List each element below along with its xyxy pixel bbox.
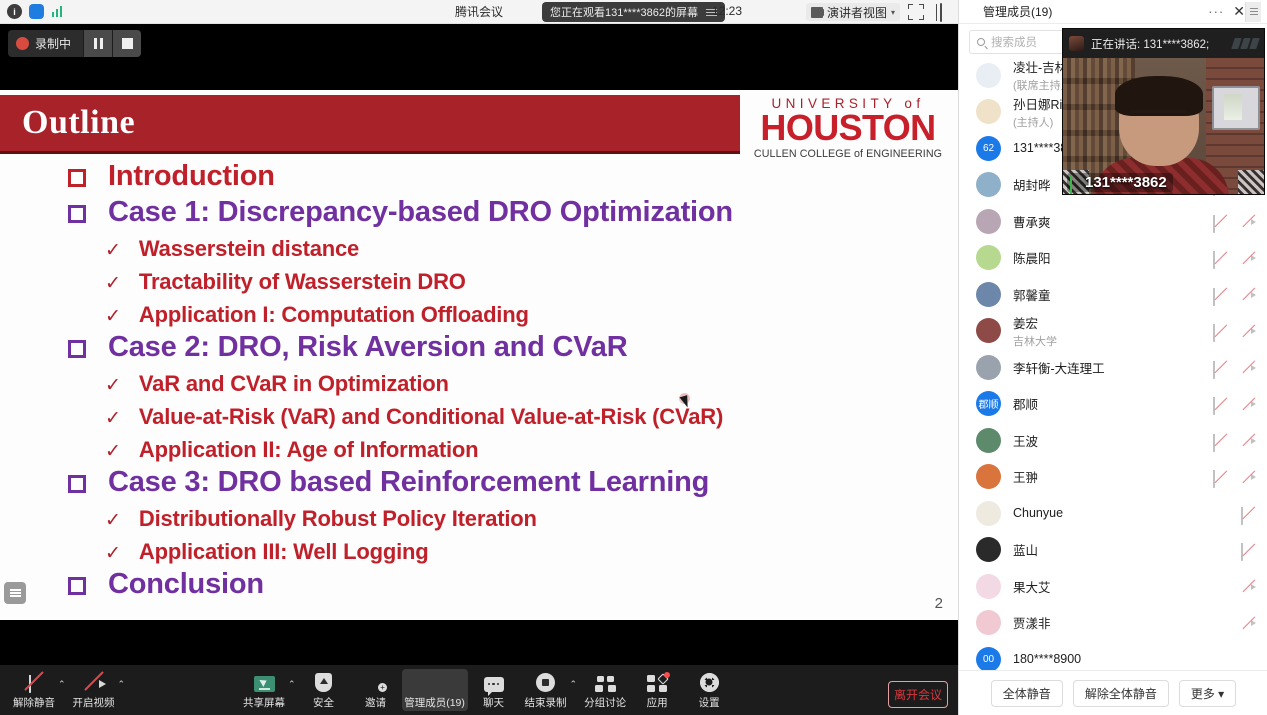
participant-name: 王波 [1013, 431, 1038, 450]
toolbar-button-label: 安全 [313, 695, 334, 710]
info-icon[interactable]: i [7, 4, 22, 19]
camera-off-icon[interactable] [1241, 288, 1256, 301]
toolbar-button-label: 分组讨论 [584, 695, 626, 710]
avatar [976, 245, 1001, 270]
participant-controls [1213, 324, 1256, 337]
speaker-name: 131****3862 [1085, 174, 1167, 191]
toolbar-button-invite[interactable]: +邀请 [350, 669, 402, 711]
participant-info: 郭馨童 [1013, 285, 1051, 304]
square-bullet-icon [68, 475, 86, 493]
participant-info: 曹承爽 [1013, 212, 1051, 231]
camera-off-icon[interactable] [1241, 215, 1256, 228]
mic-muted-icon[interactable] [1241, 543, 1256, 556]
participant-row[interactable]: 王波 [959, 422, 1267, 459]
leave-meeting-button[interactable]: 离开会议 [888, 681, 948, 708]
outline-item-level1: Case 2: DRO, Risk Aversion and CVaR [0, 331, 958, 364]
chat-icon [484, 671, 504, 692]
toolbar-button-label: 聊天 [483, 695, 504, 710]
chevron-up-icon[interactable]: ⌃ [118, 679, 126, 690]
avatar [976, 464, 1001, 489]
avatar-initials: 00 [976, 647, 1001, 672]
participant-row[interactable]: 郭馨童 [959, 276, 1267, 313]
outline-label: Application II: Age of Information [139, 437, 478, 463]
participants-icon [965, 6, 978, 18]
outline-item-level1: Introduction [0, 160, 958, 193]
mic-muted-icon[interactable] [1213, 324, 1228, 337]
camera-off-icon[interactable] [1241, 470, 1256, 483]
outline-label: Introduction [108, 160, 275, 193]
audio-wave-icon [1233, 38, 1258, 49]
outline-label: Tractability of Wasserstein DRO [139, 269, 466, 295]
check-bullet-icon: ✓ [105, 509, 121, 532]
shield-icon [315, 671, 332, 692]
participant-controls [1213, 288, 1256, 301]
square-bullet-icon [68, 340, 86, 358]
outline-item-level2: ✓Wasserstein distance [0, 236, 958, 262]
outline-label: Case 1: Discrepancy-based DRO Optimizati… [108, 196, 733, 229]
participant-info: 姜宏吉林大学 [1013, 313, 1057, 349]
view-mode-selector[interactable]: 演讲者视图 ▾ [806, 3, 900, 21]
participant-row[interactable]: Chunyue [959, 495, 1267, 532]
monitor-prop [1212, 86, 1260, 130]
camera-off-icon[interactable] [1241, 397, 1256, 410]
stop-icon [122, 38, 133, 49]
camera-off-icon[interactable] [1241, 361, 1256, 374]
outline-label: Value-at-Risk (VaR) and Conditional Valu… [139, 404, 723, 430]
toolbar-button-share-screen[interactable]: 共享屏幕 [238, 669, 290, 711]
toolbar-button-mic-muted[interactable]: 解除静音 [8, 669, 60, 711]
participant-info: 180****8900 [1013, 652, 1081, 666]
settings-icon [700, 671, 719, 692]
chevron-down-icon[interactable]: ▾ [891, 8, 895, 17]
recording-bar: 录制中 [0, 24, 958, 64]
toolbar-button-camera-off[interactable]: 开启视频 [68, 669, 120, 711]
toolbar-button-chat[interactable]: 聊天 [468, 669, 520, 711]
camera-off-icon[interactable] [1241, 251, 1256, 264]
toolbar-button-participants[interactable]: 管理成员(19) [402, 669, 468, 711]
search-placeholder: 搜索成员 [991, 34, 1037, 50]
avatar [976, 209, 1001, 234]
speaker-avatar [1069, 36, 1084, 51]
toolbar-button-label: 结束录制 [525, 695, 567, 710]
share-screen-icon [254, 671, 275, 692]
participant-info: 李轩衡-大连理工 [1013, 358, 1105, 377]
participant-controls [1213, 251, 1256, 264]
panel-footer: 全体静音解除全体静音更多 ▾ [959, 670, 1267, 715]
stop-recording-button[interactable] [112, 30, 141, 57]
participant-row[interactable]: 曹承爽 [959, 203, 1267, 240]
outline-label: Distributionally Robust Policy Iteration [139, 506, 537, 532]
participant-name: 李轩衡-大连理工 [1013, 358, 1105, 377]
avatar [976, 501, 1001, 526]
slide-page-number: 2 [935, 595, 943, 612]
participants-icon [425, 671, 444, 692]
toolbar-center-group: 共享屏幕⌃安全+邀请管理成员(19)聊天结束录制⌃分组讨论应用设置 [238, 669, 735, 711]
participant-name: 姜宏 [1013, 313, 1057, 332]
avatar [976, 172, 1001, 197]
search-icon [977, 38, 985, 46]
outline-item-level1: Case 3: DRO based Reinforcement Learning [0, 466, 958, 499]
os-top-bar: i 腾讯会议 您正在观看131****3862的屏幕 12:23 演讲者视图 ▾ [0, 0, 958, 24]
check-bullet-icon: ✓ [105, 272, 121, 295]
participant-info: Chunyue [1013, 506, 1063, 520]
participant-name: 郭馨童 [1013, 285, 1051, 304]
participant-row[interactable]: 李轩衡-大连理工 [959, 349, 1267, 386]
participant-role: 吉林大学 [1013, 333, 1057, 349]
toolbar-button-label: 邀请 [365, 695, 386, 710]
avatar [976, 537, 1001, 562]
toolbar-button-shield[interactable]: 安全 [298, 669, 350, 711]
camera-off-icon[interactable] [1241, 616, 1256, 629]
toolbar-button-breakout[interactable]: 分组讨论 [579, 669, 631, 711]
outline-label: Application I: Computation Offloading [139, 302, 529, 328]
mic-muted-icon[interactable] [1213, 434, 1228, 447]
video-feed: 131****3862 [1063, 58, 1264, 195]
outline-item-level2: ✓VaR and CVaR in Optimization [0, 371, 958, 397]
speaker-glasses [1131, 110, 1187, 113]
square-bullet-icon [68, 577, 86, 595]
shared-screen-stage: Outline UNIVERSITY of HOUSTON CULLEN COL… [0, 64, 958, 665]
participant-controls [1213, 215, 1256, 228]
participant-name: 曹承爽 [1013, 212, 1051, 231]
mic-muted-icon[interactable] [1213, 251, 1228, 264]
speaker-name-badge: 131****3862 [1067, 173, 1173, 192]
toolbar-button-label: 开启视频 [73, 695, 115, 710]
camera-off-icon[interactable] [1241, 580, 1256, 593]
panel-footer-button[interactable]: 更多 ▾ [1179, 680, 1236, 707]
speaker-view-icon [811, 7, 823, 18]
participant-controls [1213, 470, 1256, 483]
record-indicator-icon [16, 37, 29, 50]
participant-info: 陈晨阳 [1013, 248, 1051, 267]
participant-controls [1241, 543, 1256, 556]
outline-label: Wasserstein distance [139, 236, 359, 262]
outline-item-level1: Conclusion [0, 568, 958, 601]
view-mode-label: 演讲者视图 [827, 4, 887, 21]
chevron-up-icon[interactable]: ⌃ [288, 679, 296, 690]
thumbnail-header: 正在讲话: 131****3862; [1063, 29, 1264, 58]
outline-label: Case 3: DRO based Reinforcement Learning [108, 466, 709, 499]
participant-row[interactable]: 果大艾 [959, 568, 1267, 605]
avatar-initials: 郡顺 [976, 391, 1001, 416]
outline-label: Conclusion [108, 568, 264, 601]
participant-row[interactable]: 贾漾非 [959, 605, 1267, 642]
outline-label: Case 2: DRO, Risk Aversion and CVaR [108, 331, 627, 364]
square-bullet-icon [68, 205, 86, 223]
speaking-label: 正在讲话: 131****3862; [1091, 36, 1209, 52]
avatar [976, 610, 1001, 635]
active-speaker-thumbnail[interactable]: 正在讲话: 131****3862; 131****3862 [1062, 28, 1265, 195]
logo-sub-text: CULLEN COLLEGE of ENGINEERING [748, 148, 948, 160]
avatar [976, 318, 1001, 343]
chevron-up-icon[interactable]: ⌃ [58, 679, 66, 690]
check-bullet-icon: ✓ [105, 407, 121, 430]
outline-item-level1: Case 1: Discrepancy-based DRO Optimizati… [0, 196, 958, 229]
signal-icon[interactable] [51, 4, 66, 19]
pause-icon [94, 38, 103, 49]
outline-item-level2: ✓Application III: Well Logging [0, 539, 958, 565]
participant-controls [1241, 507, 1256, 520]
participant-name: Chunyue [1013, 506, 1063, 520]
mic-muted-icon[interactable] [1213, 361, 1228, 374]
slide-title-banner: Outline [0, 95, 740, 151]
recording-panel: 录制中 [8, 30, 141, 57]
participant-controls [1241, 616, 1256, 629]
record-icon [536, 671, 555, 692]
mic-muted-icon[interactable] [1213, 288, 1228, 301]
participant-info: 果大艾 [1013, 577, 1051, 596]
panel-drag-handle[interactable] [1245, 2, 1261, 22]
camera-off-icon [82, 671, 106, 692]
mic-muted-icon[interactable] [1213, 397, 1228, 410]
panel-header-actions: ··· ✕ [1208, 3, 1245, 20]
corner-pattern-right [1238, 170, 1264, 195]
toolbar-button-label: 应用 [647, 695, 668, 710]
mic-muted-icon [29, 671, 40, 692]
toolbar-button-settings[interactable]: 设置 [683, 669, 735, 711]
meeting-toolbar: 解除静音⌃开启视频⌃ 共享屏幕⌃安全+邀请管理成员(19)聊天结束录制⌃分组讨论… [0, 665, 958, 715]
participant-info: 胡封晔 [1013, 175, 1051, 194]
participant-info: 王翀 [1013, 467, 1038, 486]
participant-row[interactable]: 蓝山 [959, 532, 1267, 569]
logo-main-text: HOUSTON [748, 111, 948, 145]
outline-label: Application III: Well Logging [139, 539, 429, 565]
outline-item-level2: ✓Tractability of Wasserstein DRO [0, 269, 958, 295]
recording-status-label: 录制中 [35, 35, 71, 52]
toolbar-button-label: 管理成员(19) [404, 695, 465, 710]
participant-name: 果大艾 [1013, 577, 1051, 596]
mic-muted-icon[interactable] [1213, 470, 1228, 483]
participant-name: 陈晨阳 [1013, 248, 1051, 267]
os-tray-icons: i [0, 4, 66, 19]
participant-name: 胡封晔 [1013, 175, 1051, 194]
meeting-window: i 腾讯会议 您正在观看131****3862的屏幕 12:23 演讲者视图 ▾ [0, 0, 1267, 715]
participant-row[interactable]: 姜宏吉林大学 [959, 313, 1267, 350]
slide-outline-list: IntroductionCase 1: Discrepancy-based DR… [0, 160, 958, 603]
close-icon[interactable]: ✕ [1233, 3, 1245, 20]
breakout-icon [595, 671, 616, 692]
participant-controls [1213, 361, 1256, 374]
check-bullet-icon: ✓ [105, 305, 121, 328]
exit-fullscreen-button[interactable] [908, 4, 924, 20]
check-bullet-icon: ✓ [105, 374, 121, 397]
toolbar-button-apps[interactable]: 应用 [631, 669, 683, 711]
avatar [976, 574, 1001, 599]
clock: 12:23 [712, 4, 742, 18]
camera-off-icon[interactable] [1241, 324, 1256, 337]
university-logo: UNIVERSITY of HOUSTON CULLEN COLLEGE of … [748, 96, 948, 160]
participant-info: 郡顺 [1013, 394, 1038, 413]
slide-menu-button[interactable] [4, 582, 26, 604]
participant-name: 贾漾非 [1013, 613, 1051, 632]
screen-watching-notice[interactable]: 您正在观看131****3862的屏幕 [542, 2, 725, 22]
participant-controls [1241, 580, 1256, 593]
toolbar-button-label: 设置 [699, 695, 720, 710]
presentation-slide: Outline UNIVERSITY of HOUSTON CULLEN COL… [0, 90, 958, 620]
pause-recording-button[interactable] [83, 30, 112, 57]
outline-item-level2: ✓Value-at-Risk (VaR) and Conditional Val… [0, 404, 958, 430]
avatar-initials: 62 [976, 136, 1001, 161]
toolbar-left-group: 解除静音⌃开启视频⌃ [8, 669, 127, 711]
avatar [976, 99, 1001, 124]
participant-name: 王翀 [1013, 467, 1038, 486]
participant-info: 贾漾非 [1013, 613, 1051, 632]
split-view-button[interactable] [940, 4, 956, 20]
mic-muted-icon[interactable] [1213, 215, 1228, 228]
invite-icon: + [366, 671, 385, 692]
panel-header: 管理成员(19) ··· ✕ [959, 0, 1267, 24]
avatar: 郡顺 [976, 391, 1001, 416]
list-icon [10, 587, 21, 598]
outline-label: VaR and CVaR in Optimization [139, 371, 449, 397]
participant-name: 180****8900 [1013, 652, 1081, 666]
check-bullet-icon: ✓ [105, 440, 121, 463]
participant-controls [1213, 434, 1256, 447]
apps-icon [647, 671, 667, 692]
chevron-up-icon[interactable]: ⌃ [570, 679, 578, 690]
shield-icon[interactable] [29, 4, 44, 19]
watching-notice-text: 您正在观看131****3862的屏幕 [550, 4, 698, 20]
panel-footer-button[interactable]: 全体静音 [991, 680, 1063, 707]
check-bullet-icon: ✓ [105, 542, 121, 565]
outline-item-level2: ✓Application I: Computation Offloading [0, 302, 958, 328]
outline-item-level2: ✓Distributionally Robust Policy Iteratio… [0, 506, 958, 532]
mic-on-icon [1070, 176, 1081, 189]
toolbar-button-record[interactable]: 结束录制 [520, 669, 572, 711]
mic-muted-icon[interactable] [1241, 507, 1256, 520]
avatar: 00 [976, 647, 1001, 672]
avatar [976, 428, 1001, 453]
participant-row[interactable]: 郡顺郡顺 [959, 386, 1267, 423]
participant-name: 蓝山 [1013, 540, 1038, 559]
panel-footer-button[interactable]: 解除全体静音 [1073, 680, 1169, 707]
participant-row[interactable]: 陈晨阳 [959, 240, 1267, 277]
outline-item-level2: ✓Application II: Age of Information [0, 437, 958, 463]
slide-title: Outline [0, 104, 135, 142]
participant-controls [1213, 397, 1256, 410]
panel-title: 管理成员(19) [983, 3, 1052, 20]
participant-info: 王波 [1013, 431, 1038, 450]
avatar [976, 355, 1001, 380]
square-bullet-icon [68, 169, 86, 187]
avatar: 62 [976, 136, 1001, 161]
avatar [976, 63, 1001, 88]
toolbar-button-label: 解除静音 [13, 695, 55, 710]
participant-info: 蓝山 [1013, 540, 1038, 559]
check-bullet-icon: ✓ [105, 239, 121, 262]
participant-row[interactable]: 王翀 [959, 459, 1267, 496]
participant-name: 郡顺 [1013, 394, 1038, 413]
avatar [976, 282, 1001, 307]
camera-off-icon[interactable] [1241, 434, 1256, 447]
toolbar-button-label: 共享屏幕 [243, 695, 285, 710]
more-options-icon[interactable]: ··· [1208, 4, 1224, 19]
